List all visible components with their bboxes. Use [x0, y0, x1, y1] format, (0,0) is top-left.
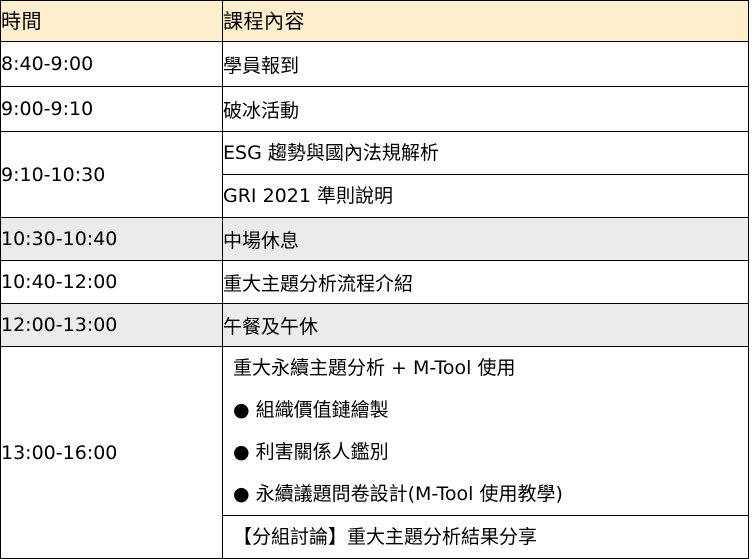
cell-content: 學員報到	[223, 42, 749, 87]
content-line-bullet: ● 組織價值鏈繪製	[223, 389, 748, 431]
cell-time: 8:40-9:00	[1, 42, 223, 87]
cell-content: 破冰活動	[223, 87, 749, 132]
course-schedule-table: 時間 課程內容 8:40-9:00 學員報到 9:00-9:10 破冰活動 9:…	[0, 0, 749, 559]
cell-time: 9:10-10:30	[1, 132, 223, 218]
cell-time: 10:40-12:00	[1, 261, 223, 304]
cell-content: 重大主題分析流程介紹	[223, 261, 749, 304]
content-line-bullet: ● 利害關係人鑑別	[223, 431, 748, 473]
table-row: 10:30-10:40 中場休息	[1, 218, 749, 261]
cell-time: 10:30-10:40	[1, 218, 223, 261]
table-header-row: 時間 課程內容	[1, 1, 749, 42]
table-row: 12:00-13:00 午餐及午休	[1, 304, 749, 347]
content-line-title: 重大永續主題分析 + M-Tool 使用	[223, 347, 748, 389]
cell-time: 12:00-13:00	[1, 304, 223, 347]
cell-content: 午餐及午休	[223, 304, 749, 347]
cell-content: 中場休息	[223, 218, 749, 261]
table-row: 10:40-12:00 重大主題分析流程介紹	[1, 261, 749, 304]
cell-content: GRI 2021 準則說明	[223, 175, 749, 218]
column-header-time: 時間	[1, 1, 223, 42]
cell-content: 重大永續主題分析 + M-Tool 使用 ● 組織價值鏈繪製 ● 利害關係人鑑別…	[223, 347, 749, 559]
content-line-bullet: ● 永續議題問卷設計(M-Tool 使用教學)	[223, 473, 748, 515]
column-header-content: 課程內容	[223, 1, 749, 42]
cell-time: 9:00-9:10	[1, 87, 223, 132]
content-line-group-discussion: 【分組討論】重大主題分析結果分享	[223, 515, 748, 558]
cell-content: ESG 趨勢與國內法規解析	[223, 132, 749, 175]
cell-time: 13:00-16:00	[1, 347, 223, 559]
table-row: 13:00-16:00 重大永續主題分析 + M-Tool 使用 ● 組織價值鏈…	[1, 347, 749, 559]
table-row: 8:40-9:00 學員報到	[1, 42, 749, 87]
table-row: 9:00-9:10 破冰活動	[1, 87, 749, 132]
table-row: 9:10-10:30 ESG 趨勢與國內法規解析	[1, 132, 749, 175]
